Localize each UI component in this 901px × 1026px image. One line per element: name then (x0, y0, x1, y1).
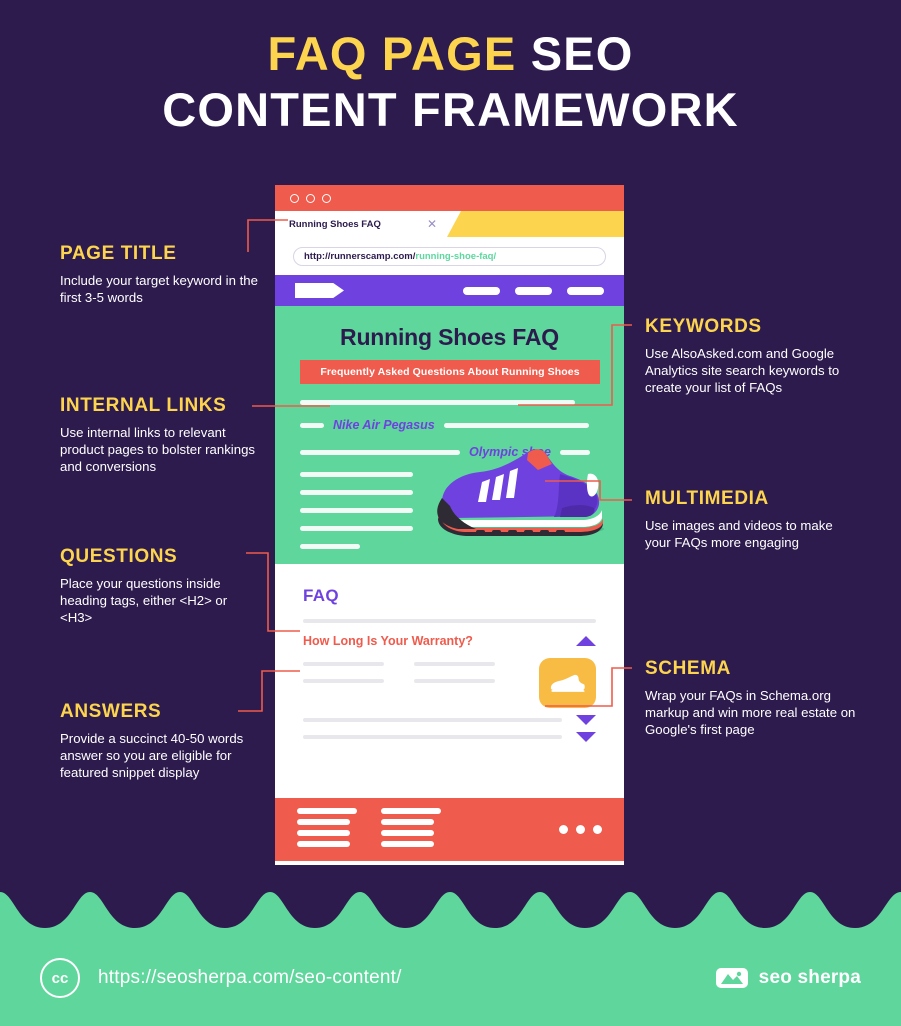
annotation-heading: INTERNAL LINKS (60, 395, 260, 417)
annotation-heading: ANSWERS (60, 701, 260, 723)
annotation-body: Place your questions inside heading tags… (60, 575, 260, 626)
annotation-page-title: PAGE TITLE Include your target keyword i… (60, 243, 260, 306)
annotation-heading: PAGE TITLE (60, 243, 260, 265)
infographic-canvas: FAQ PAGE SEO CONTENT FRAMEWORK Running S… (0, 0, 901, 1026)
annotation-body: Wrap your FAQs in Schema.org markup and … (645, 687, 860, 738)
annotation-body: Use internal links to relevant product p… (60, 424, 260, 475)
annotation-heading: MULTIMEDIA (645, 488, 855, 510)
annotation-body: Use images and videos to make your FAQs … (645, 517, 855, 551)
annotation-heading: QUESTIONS (60, 546, 260, 568)
annotation-heading: KEYWORDS (645, 316, 855, 338)
annotation-body: Use AlsoAsked.com and Google Analytics s… (645, 345, 855, 396)
annotation-internal-links: INTERNAL LINKS Use internal links to rel… (60, 395, 260, 475)
annotation-body: Include your target keyword in the first… (60, 272, 260, 306)
annotation-schema: SCHEMA Wrap your FAQs in Schema.org mark… (645, 658, 860, 738)
annotation-answers: ANSWERS Provide a succinct 40-50 words a… (60, 701, 260, 781)
annotation-body: Provide a succinct 40-50 words answer so… (60, 730, 260, 781)
annotation-questions: QUESTIONS Place your questions inside he… (60, 546, 260, 626)
annotation-keywords: KEYWORDS Use AlsoAsked.com and Google An… (645, 316, 855, 396)
annotation-heading: SCHEMA (645, 658, 860, 680)
annotation-multimedia: MULTIMEDIA Use images and videos to make… (645, 488, 855, 551)
